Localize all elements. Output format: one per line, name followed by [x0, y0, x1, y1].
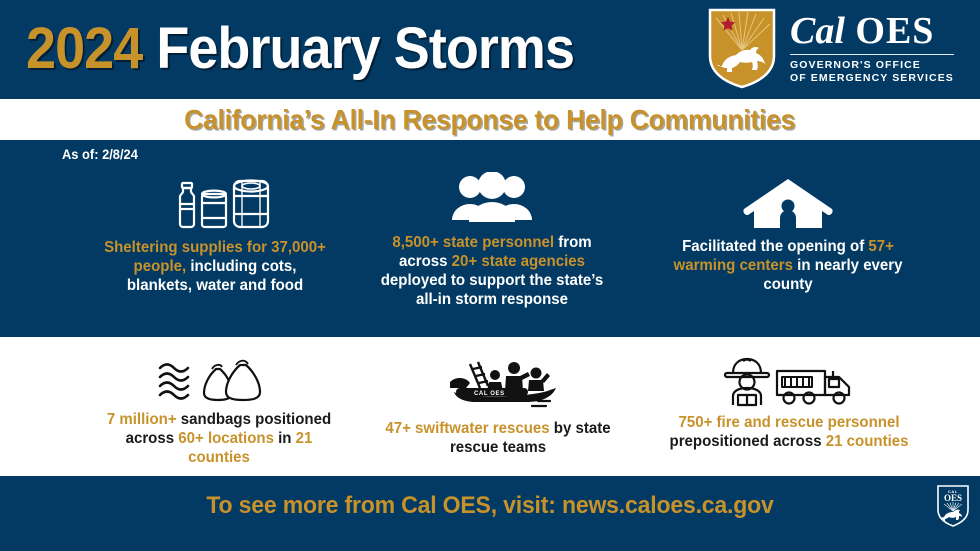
logo-tagline-line2: OF EMERGENCY SERVICES	[790, 72, 954, 85]
title-subject: February Storms	[142, 16, 574, 81]
stat-personnel-seg-2: 20+ state agencies	[452, 253, 585, 270]
stat-fire-seg-1: prepositioned across	[670, 433, 826, 450]
logo-word-cal: Cal	[790, 10, 845, 52]
as-of-date: As of: 2/8/24	[62, 146, 138, 162]
stat-fire-text: 750+ fire and rescue personnel prepositi…	[666, 413, 912, 451]
stat-sandbags: 7 million+ sandbags positioned across 60…	[96, 355, 342, 467]
stat-personnel-seg-0: 8,500+ state personnel	[392, 234, 554, 251]
sandbags-and-waves-icon	[96, 355, 342, 403]
stat-rescues-text: 47+ swiftwater rescues by state rescue t…	[384, 419, 613, 457]
group-of-people-icon	[372, 172, 612, 226]
stat-rescues-seg-0: 47+ swiftwater rescues	[385, 420, 549, 437]
page-title: 2024 February Storms	[26, 15, 574, 83]
cal-oes-logo: Cal OES GOVERNOR'S OFFICE OF EMERGENCY S…	[706, 6, 968, 90]
stat-sandbags-seg-3: in	[274, 430, 296, 447]
title-year: 2024	[26, 16, 142, 81]
stat-warming-text: Facilitated the opening of 57+ warming c…	[668, 237, 909, 294]
stat-fire-seg-2: 21 counties	[826, 433, 909, 450]
firefighter-and-fire-truck-icon	[662, 355, 916, 407]
subtitle-text: California’s All-In Response to Help Com…	[184, 104, 795, 136]
stat-swiftwater-rescues: CAL OES 47+ swiftwater rescues by state …	[380, 358, 616, 457]
logo-wordmark-block: Cal OES GOVERNOR'S OFFICE OF EMERGENCY S…	[790, 11, 954, 85]
infographic-poster: 2024 February Storms Cal OES GOVERNOR'S …	[0, 0, 980, 551]
stat-personnel-text: 8,500+ state personnel from across 20+ s…	[376, 233, 609, 309]
cal-oes-bear-shield-icon	[706, 6, 778, 90]
badge-label-oes: OES	[944, 493, 962, 503]
subtitle-band: California’s All-In Response to Help Com…	[0, 99, 980, 140]
stat-personnel-seg-3: deployed to support the state’s all-in s…	[381, 272, 603, 308]
stat-fire-seg-0: 750+ fire and rescue personnel	[678, 414, 899, 431]
logo-word-oes: OES	[845, 10, 935, 52]
stat-sandbags-text: 7 million+ sandbags positioned across 60…	[100, 410, 339, 467]
logo-divider	[790, 54, 954, 55]
house-with-person-icon	[664, 176, 912, 230]
footer-link-text[interactable]: To see more from Cal OES, visit: news.ca…	[20, 492, 961, 520]
rescue-boat-icon: CAL OES	[380, 358, 616, 410]
stat-sandbags-seg-0: 7 million+	[107, 411, 177, 428]
stat-sandbags-seg-2: 60+ locations	[178, 430, 274, 447]
stat-warming-centers: Facilitated the opening of 57+ warming c…	[664, 176, 912, 294]
stat-personnel: 8,500+ state personnel from across 20+ s…	[372, 172, 612, 309]
logo-wordmark: Cal OES	[790, 11, 954, 51]
stat-fire-rescue: 750+ fire and rescue personnel prepositi…	[662, 355, 916, 451]
shelter-supplies-icon	[96, 176, 334, 232]
stat-shelter: Sheltering supplies for 37,000+ people, …	[96, 176, 334, 295]
stat-warming-seg-0: Facilitated the opening of	[682, 238, 868, 255]
boat-label: CAL OES	[474, 391, 505, 397]
cal-oes-shield-badge-icon: CAL OES	[936, 484, 970, 528]
stat-shelter-text: Sheltering supplies for 37,000+ people, …	[100, 238, 331, 295]
logo-tagline-line1: GOVERNOR'S OFFICE	[790, 59, 954, 72]
